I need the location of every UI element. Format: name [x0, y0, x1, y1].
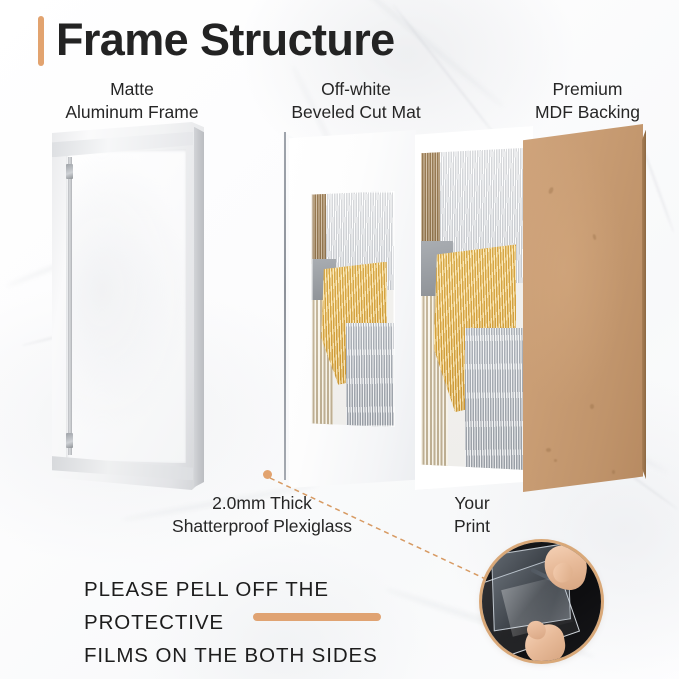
mdf-side-edge [642, 130, 646, 480]
artwork-icon [421, 148, 527, 470]
label-plexiglass: 2.0mm Thick Shatterproof Plexiglass [150, 492, 374, 538]
label-beveled-mat: Off-white Beveled Cut Mat [266, 78, 446, 124]
page-title: Frame Structure [56, 11, 395, 69]
label-your-print: Your Print [420, 492, 524, 538]
plexiglass-callout-dot [263, 470, 272, 479]
frame-side-edge [194, 127, 204, 488]
frame-hanger-rail [68, 157, 72, 455]
layer-beveled-mat [289, 130, 416, 488]
mat-cut-window [311, 191, 395, 427]
plexiglass-edge-line [284, 132, 286, 480]
label-mdf-backing: Premium MDF Backing [505, 78, 670, 124]
frame-clip-top [66, 164, 73, 179]
layer-mdf-backing [523, 124, 643, 492]
protective-film-notice: PLEASE PELL OFF THE PROTECTIVE FILMS ON … [84, 573, 464, 672]
frame-structure-infographic: Frame Structure Matte Aluminum Frame Off… [0, 0, 679, 679]
frame-opening [66, 149, 186, 463]
layer-aluminum-frame [52, 122, 204, 490]
mat-bevel-edge [311, 191, 395, 427]
layer-art-print [415, 126, 533, 490]
backing-board-icon [523, 124, 643, 492]
protective-film-peel-photo [482, 542, 601, 661]
frame-clip-bottom [66, 433, 73, 448]
label-aluminum-frame: Matte Aluminum Frame [52, 78, 212, 124]
title-accent-bar [38, 16, 44, 66]
